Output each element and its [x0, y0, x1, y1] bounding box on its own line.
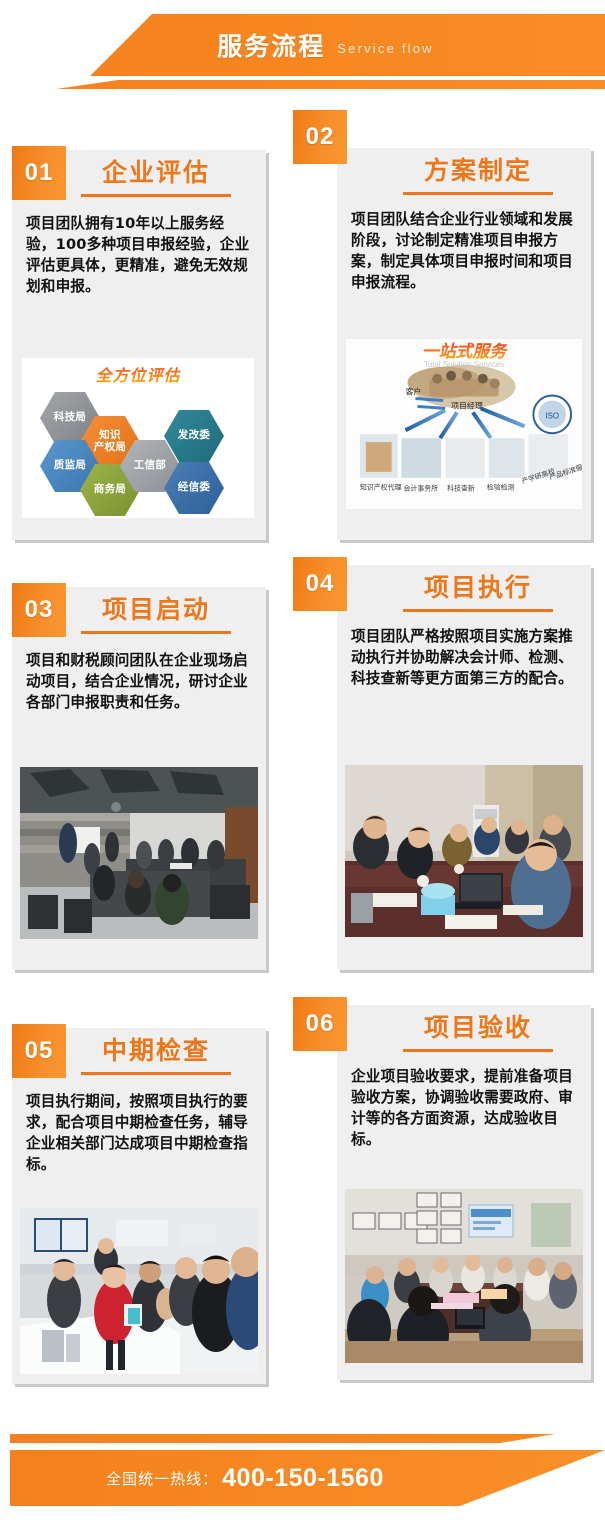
svg-text:一站式服务: 一站式服务	[422, 341, 508, 361]
step-card-03[interactable]: 项目启动 项目和财税顾问团队在企业现场启动项目，结合企业情况，研讨企业各部门申报…	[12, 587, 266, 970]
card-title-05: 中期检查	[102, 1038, 210, 1066]
page-footer: 全国统一热线： 400-150-1560	[0, 1434, 605, 1520]
card-body-05: 项目执行期间，按照项目执行的要求，配合项目中期检查任务，辅导企业相关部门达成项目…	[26, 1091, 252, 1176]
title-underline-06	[403, 1049, 553, 1052]
card-body-01: 项目团队拥有10年以上服务经验，100多种项目申报经验，企业评估更具体，更精准，…	[26, 213, 252, 298]
hotline-label: 全国统一热线：	[106, 1468, 218, 1489]
title-underline-03	[81, 631, 231, 634]
footer-accent-stripe	[10, 1434, 605, 1443]
svg-text:会计事务所: 会计事务所	[404, 484, 439, 493]
title-underline-05	[81, 1072, 231, 1075]
title-underline-04	[403, 609, 553, 612]
svg-text:Total Solution Services: Total Solution Services	[424, 360, 504, 369]
card-header-04: 项目执行	[337, 565, 591, 612]
card-body-06: 企业项目验收要求，提前准备项目验收方案，协调验收需要政府、审计等的各方面资源，达…	[351, 1066, 577, 1151]
page-title: 服务流程	[217, 27, 325, 63]
hotline-group: 全国统一热线： 400-150-1560	[10, 1450, 480, 1506]
hexagon-diagram-title: 全方位评估	[95, 362, 180, 386]
card-header-02: 方案制定	[337, 148, 591, 195]
hotline-number[interactable]: 400-150-1560	[222, 1464, 384, 1493]
card-header-06: 项目验收	[337, 1005, 591, 1052]
acceptance-meeting-photo	[345, 1189, 583, 1363]
step-card-04[interactable]: 项目执行 项目团队严格按照项目实施方案推动执行并协助解决会计师、检测、科技查新等…	[337, 565, 591, 970]
svg-text:客户: 客户	[405, 387, 421, 397]
title-underline-02	[403, 192, 553, 195]
conference-room-photo	[20, 767, 258, 939]
svg-text:知识产权代理: 知识产权代理	[360, 483, 402, 492]
svg-text:项目经理: 项目经理	[451, 400, 483, 410]
header-title-group: 服务流程 Service flow	[0, 14, 605, 76]
step-badge-01: 01	[12, 146, 66, 200]
card-title-02: 方案制定	[424, 158, 532, 186]
step-card-01[interactable]: 企业评估 项目团队拥有10年以上服务经验，100多种项目申报经验，企业评估更具体…	[12, 150, 266, 540]
svg-text:检验检测: 检验检测	[487, 483, 515, 492]
site-visit-photo	[20, 1208, 258, 1374]
card-title-06: 项目验收	[424, 1015, 532, 1043]
card-title-01: 企业评估	[102, 160, 210, 188]
svg-text:ISO: ISO	[545, 411, 559, 420]
card-body-04: 项目团队严格按照项目实施方案推动执行并协助解决会计师、检测、科技查新等更方面第三…	[351, 626, 577, 689]
service-flow-page: 服务流程 Service flow 01 企业评估 项目团队拥有10年以上服务经…	[0, 0, 605, 1538]
step-badge-04: 04	[293, 557, 347, 611]
step-card-06[interactable]: 项目验收 企业项目验收要求，提前准备项目验收方案，协调验收需要政府、审计等的各方…	[337, 1005, 591, 1380]
step-badge-06: 06	[293, 997, 347, 1051]
page-header: 服务流程 Service flow	[0, 14, 605, 100]
hexagon-assessment-diagram: 全方位评估 科技局 知识产权局 质监局 商务局 工信部 发改委 经信委	[22, 358, 254, 518]
one-stop-service-diagram: ISO 客户 项目经理 知识产权代理 会计事务所 科技查新 检验检测 产学研高校…	[345, 338, 583, 510]
step-badge-03: 03	[12, 583, 66, 637]
card-title-04: 项目执行	[424, 575, 532, 603]
step-card-02[interactable]: 方案制定 项目团队结合企业行业领域和发展阶段，讨论制定精准项目申报方案，制定具体…	[337, 148, 591, 540]
step-card-05[interactable]: 中期检查 项目执行期间，按照项目执行的要求，配合项目中期检查任务，辅导企业相关部…	[12, 1028, 266, 1384]
laptop-worksession-photo	[345, 765, 583, 937]
title-underline-01	[81, 194, 231, 197]
step-badge-02: 02	[293, 110, 347, 164]
page-subtitle: Service flow	[337, 41, 433, 56]
card-body-02: 项目团队结合企业行业领域和发展阶段，讨论制定精准项目申报方案，制定具体项目申报时…	[351, 209, 577, 294]
service-diagram-graphic: ISO 客户 项目经理 知识产权代理 会计事务所 科技查新 检验检测 产学研高校…	[346, 339, 582, 510]
header-accent-stripe	[0, 80, 605, 89]
card-title-03: 项目启动	[102, 597, 210, 625]
card-body-03: 项目和财税顾问团队在企业现场启动项目，结合企业情况，研讨企业各部门申报职责和任务…	[26, 650, 252, 713]
svg-text:科技查新: 科技查新	[447, 484, 475, 493]
step-badge-05: 05	[12, 1024, 66, 1078]
